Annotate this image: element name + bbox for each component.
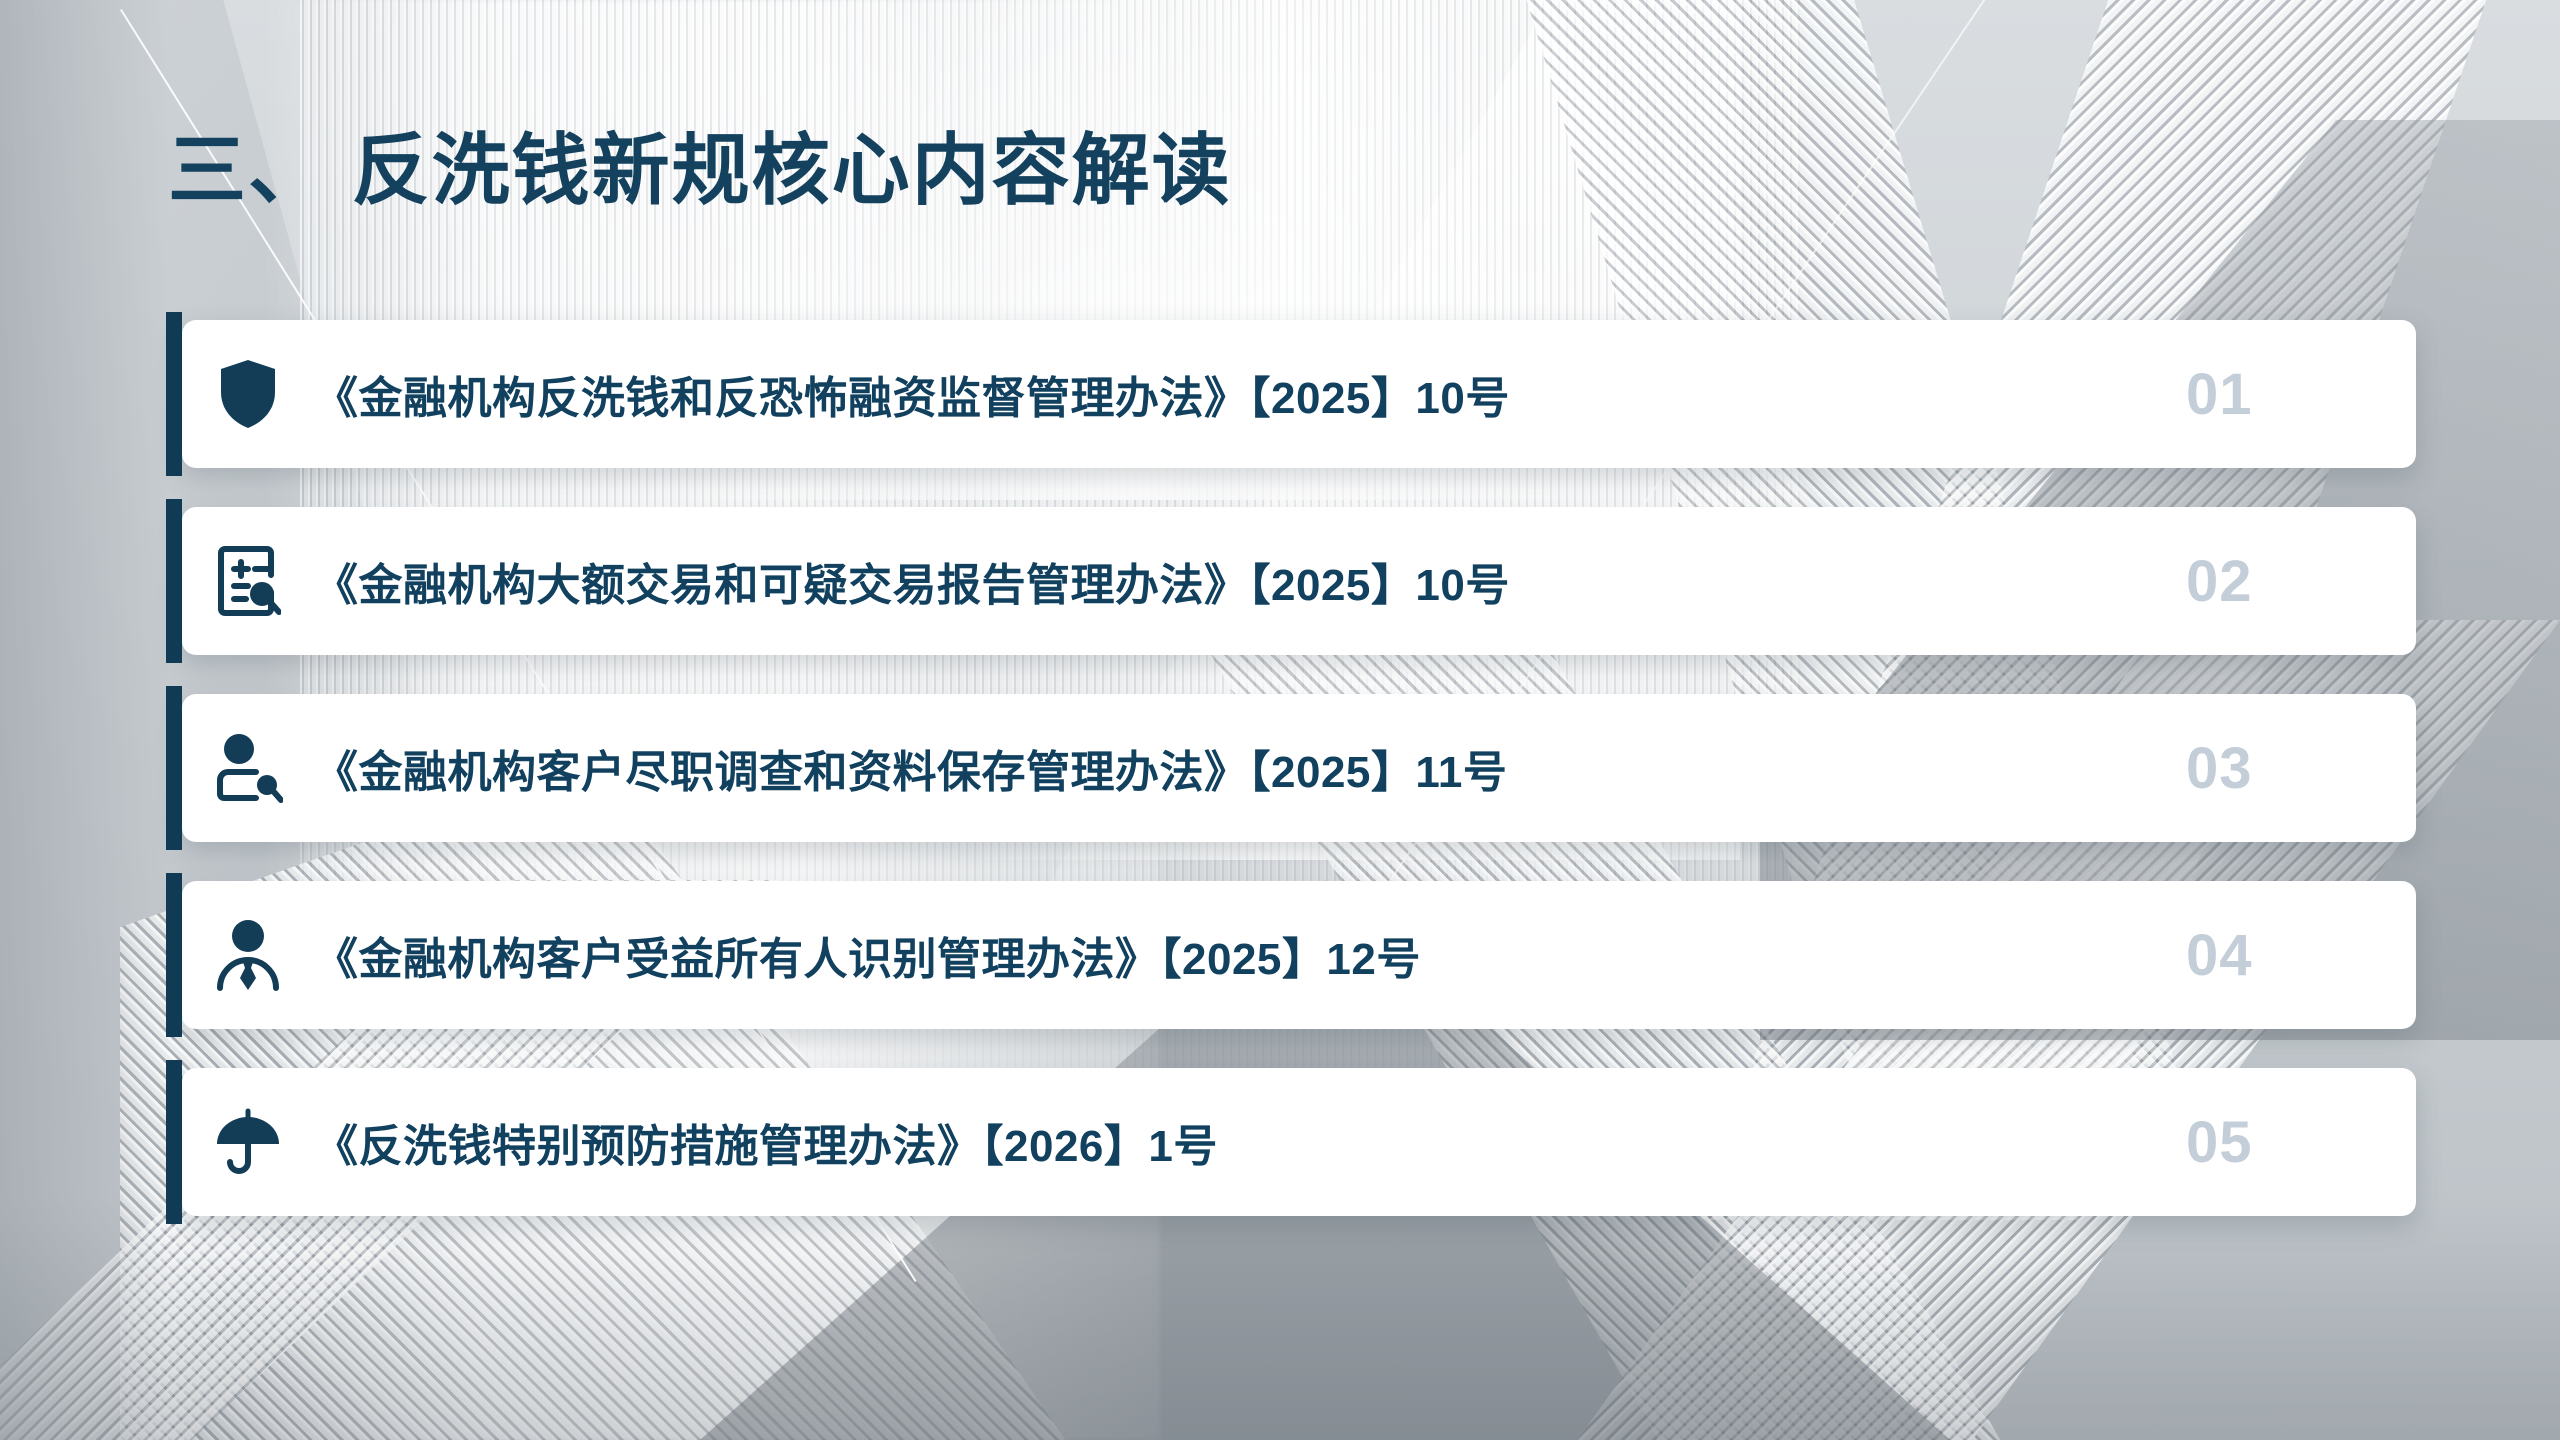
list-item-label: 《金融机构客户受益所有人识别管理办法》【2025】12号: [314, 923, 2186, 987]
shield-icon: [182, 358, 314, 430]
report-search-icon: [182, 544, 314, 618]
card-accent-bar: [166, 686, 182, 850]
list-item[interactable]: 《金融机构客户尽职调查和资料保存管理办法》【2025】11号 03: [166, 694, 2416, 842]
list-item-label: 《金融机构大额交易和可疑交易报告管理办法》【2025】10号: [314, 549, 2186, 613]
list-item-label: 《金融机构反洗钱和反恐怖融资监督管理办法》【2025】10号: [314, 362, 2186, 426]
policy-card-list: 《金融机构反洗钱和反恐怖融资监督管理办法》【2025】10号 01: [166, 320, 2416, 1216]
card-body[interactable]: 《金融机构反洗钱和反恐怖融资监督管理办法》【2025】10号 01: [182, 320, 2416, 468]
slide-content: 三、 反洗钱新规核心内容解读 《金融机构反洗钱和反恐怖融资监督管理办法》【202…: [0, 0, 2560, 1440]
list-item[interactable]: 《金融机构反洗钱和反恐怖融资监督管理办法》【2025】10号 01: [166, 320, 2416, 468]
person-search-icon: [182, 732, 314, 804]
list-item-number: 02: [2186, 548, 2416, 615]
list-item-label: 《金融机构客户尽职调查和资料保存管理办法》【2025】11号: [314, 736, 2186, 800]
person-tie-icon: [182, 918, 314, 992]
card-accent-bar: [166, 312, 182, 476]
list-item-label: 《反洗钱特别预防措施管理办法》【2026】1号: [314, 1110, 2186, 1174]
list-item-number: 04: [2186, 922, 2416, 989]
card-body[interactable]: 《反洗钱特别预防措施管理办法》【2026】1号 05: [182, 1068, 2416, 1216]
list-item-number: 03: [2186, 735, 2416, 802]
list-item-number: 01: [2186, 361, 2416, 428]
card-body[interactable]: 《金融机构客户受益所有人识别管理办法》【2025】12号 04: [182, 881, 2416, 1029]
card-body[interactable]: 《金融机构客户尽职调查和资料保存管理办法》【2025】11号 03: [182, 694, 2416, 842]
page-title: 三、 反洗钱新规核心内容解读: [168, 108, 1232, 220]
umbrella-icon: [182, 1106, 314, 1178]
list-item[interactable]: 《金融机构客户受益所有人识别管理办法》【2025】12号 04: [166, 881, 2416, 1029]
list-item[interactable]: 《反洗钱特别预防措施管理办法》【2026】1号 05: [166, 1068, 2416, 1216]
list-item-number: 05: [2186, 1109, 2416, 1176]
list-item[interactable]: 《金融机构大额交易和可疑交易报告管理办法》【2025】10号 02: [166, 507, 2416, 655]
card-accent-bar: [166, 1060, 182, 1224]
card-body[interactable]: 《金融机构大额交易和可疑交易报告管理办法》【2025】10号 02: [182, 507, 2416, 655]
card-accent-bar: [166, 873, 182, 1037]
card-accent-bar: [166, 499, 182, 663]
